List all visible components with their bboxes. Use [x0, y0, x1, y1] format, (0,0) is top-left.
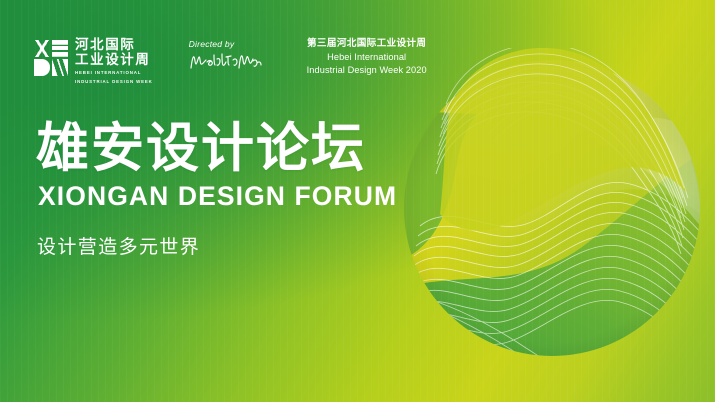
title-cn: 雄安设计论坛: [36, 120, 397, 178]
event-title-block: 第三届河北国际工业设计周 Hebei International Industr…: [297, 37, 437, 77]
hidw-monogram-icon: [34, 40, 68, 76]
abstract-contour-sphere: [386, 48, 708, 360]
event-cn-title: 第三届河北国际工业设计周: [297, 38, 437, 50]
logo-en-line-1: HEBEI INTERNATIONAL: [75, 70, 153, 76]
logo-cn-line-2: 工业设计周: [75, 53, 153, 68]
title-en: XIONGAN DESIGN FORUM: [38, 181, 397, 211]
directed-by-block: Directed by: [189, 37, 263, 73]
event-en-line-2: Industrial Design Week 2020: [297, 64, 437, 76]
monogram-letter-e: [52, 40, 68, 57]
directed-by-label: Directed by: [189, 39, 263, 49]
tagline: 设计营造多元世界: [37, 236, 200, 260]
poster-canvas: 河北国际 工业设计周 HEBEI INTERNATIONAL INDUSTRIA…: [0, 0, 715, 402]
logo-en-line-2: INDUSTRIAL DESIGN WEEK: [75, 79, 153, 85]
page-title: 雄安设计论坛 XIONGAN DESIGN FORUM: [36, 120, 397, 211]
monogram-letter-x: [34, 40, 50, 57]
monogram-letter-d: [34, 59, 50, 76]
signature-mark: [189, 51, 263, 73]
logo-wordmark: 河北国际 工业设计周 HEBEI INTERNATIONAL INDUSTRIA…: [75, 37, 153, 84]
logo-cn-line-1: 河北国际: [75, 38, 153, 53]
hidw-logo: 河北国际 工业设计周 HEBEI INTERNATIONAL INDUSTRIA…: [34, 37, 153, 84]
event-en-line-1: Hebei International: [297, 51, 437, 63]
poster-header: 河北国际 工业设计周 HEBEI INTERNATIONAL INDUSTRIA…: [34, 37, 437, 84]
monogram-letter-w: [52, 59, 68, 76]
